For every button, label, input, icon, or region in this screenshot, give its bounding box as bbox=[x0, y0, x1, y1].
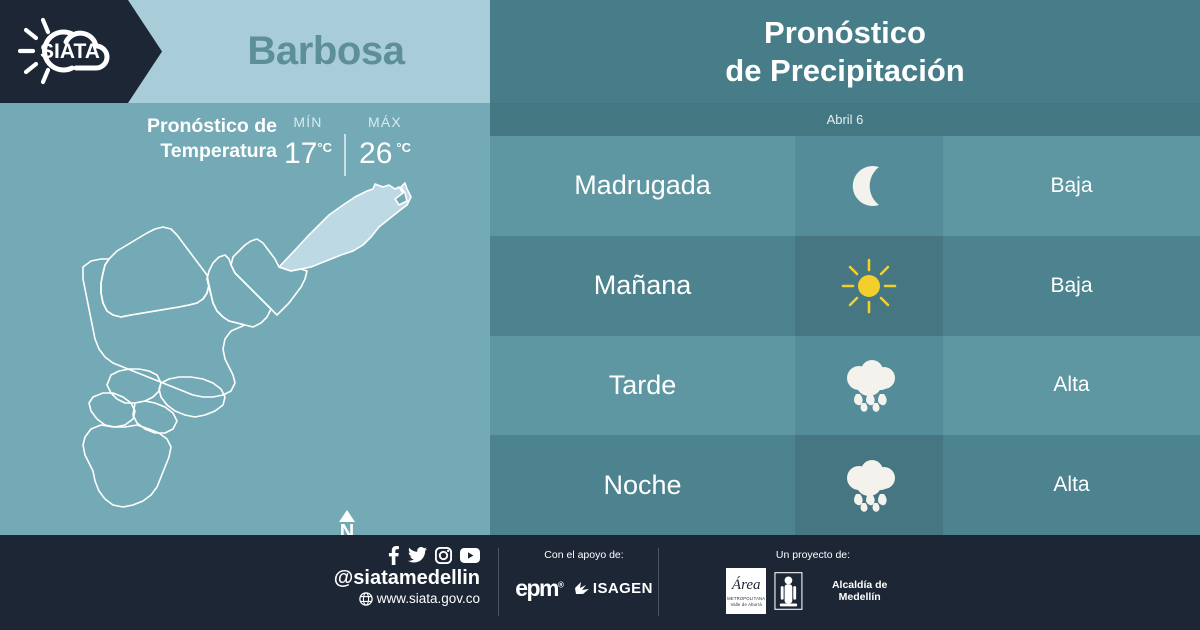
area-logo-sub: METROPOLITANA Valle de Aburrá bbox=[726, 596, 766, 608]
forecast-period: Mañana bbox=[490, 236, 795, 336]
map-region-sabaneta bbox=[133, 401, 177, 433]
temperature-min: MÍN 17°C bbox=[277, 112, 339, 170]
globe-icon bbox=[359, 592, 373, 606]
website-row[interactable]: www.siata.gov.co bbox=[300, 590, 480, 608]
map-region-barbosa bbox=[279, 183, 411, 271]
siata-logo-banner: SIATA bbox=[0, 0, 162, 103]
rain-cloud-icon bbox=[839, 356, 899, 414]
isagen-logo: ISAGEN bbox=[574, 580, 653, 597]
forecast-icon-cell bbox=[795, 136, 943, 236]
isagen-logo-text: ISAGEN bbox=[593, 580, 653, 597]
forecast-icon-cell bbox=[795, 336, 943, 436]
temperature-title: Pronóstico de Temperatura bbox=[92, 114, 277, 164]
temperature-max-label: MÁX bbox=[350, 112, 420, 132]
map-svg bbox=[55, 175, 455, 525]
area-logo-word: Área bbox=[726, 577, 766, 594]
temperature-max-value-wrap: 26°C bbox=[350, 132, 420, 170]
social-icons bbox=[300, 545, 480, 565]
temperature-title-line2: Temperatura bbox=[160, 140, 277, 162]
forecast-title-line2: de Precipitación bbox=[725, 52, 964, 90]
temperature-divider bbox=[344, 134, 346, 176]
forecast-title-line1: Pronóstico bbox=[764, 14, 926, 52]
area-metropolitana-logo: Área METROPOLITANA Valle de Aburrá bbox=[726, 568, 766, 614]
forecast-level: Alta bbox=[943, 435, 1200, 535]
footer: @siatamedellin www.siata.gov.co Con el a… bbox=[0, 535, 1200, 630]
forecast-icon-cell bbox=[795, 236, 943, 336]
forecast-row: Madrugada Baja bbox=[490, 136, 1200, 236]
forecast-row: Mañana bbox=[490, 236, 1200, 336]
forecast-level: Alta bbox=[943, 336, 1200, 436]
forecast-level: Baja bbox=[943, 236, 1200, 336]
facebook-icon[interactable] bbox=[387, 546, 400, 565]
temperature-min-value-wrap: 17°C bbox=[277, 132, 339, 170]
forecast-row: Noche bbox=[490, 435, 1200, 535]
temperature-min-label: MÍN bbox=[277, 112, 339, 132]
instagram-icon[interactable] bbox=[435, 547, 452, 564]
twitter-icon[interactable] bbox=[408, 547, 427, 563]
project-label: Un proyecto de: bbox=[718, 548, 908, 562]
social-handle[interactable]: @siatamedellin bbox=[300, 566, 480, 590]
support-block: Con el apoyo de: epm® ISAGEN bbox=[510, 548, 658, 608]
epm-logo: epm® bbox=[515, 575, 564, 602]
youtube-icon[interactable] bbox=[460, 548, 480, 563]
forecast-header: Pronóstico de Precipitación bbox=[490, 0, 1200, 103]
map-region-la-estrella bbox=[89, 393, 135, 427]
sun-icon bbox=[840, 257, 898, 315]
city-title: Barbosa bbox=[162, 0, 490, 103]
sun-cloud-icon: SIATA bbox=[14, 14, 126, 88]
temperature-max: MÁX 26°C bbox=[350, 112, 420, 170]
forecast-date: Abril 6 bbox=[490, 103, 1200, 136]
forecast-rows: Madrugada Baja Mañana bbox=[490, 136, 1200, 535]
alcaldia-de-medellin-seal bbox=[774, 571, 803, 611]
rain-cloud-icon bbox=[839, 456, 899, 514]
temperature-block: Pronóstico de Temperatura MÍN 17°C MÁX 2… bbox=[0, 112, 490, 184]
forecast-row: Tarde bbox=[490, 336, 1200, 436]
temperature-min-value: 17 bbox=[284, 137, 317, 170]
project-block: Un proyecto de: Área METROPOLITANA Valle… bbox=[718, 548, 908, 614]
left-panel: SIATA Barbosa Pronóstico de Temperatura … bbox=[0, 0, 490, 535]
epm-logo-mark: ® bbox=[558, 580, 564, 589]
map-region-itagui bbox=[107, 369, 161, 403]
epm-logo-text: epm bbox=[515, 575, 558, 601]
forecast-period: Tarde bbox=[490, 336, 795, 436]
aburra-valley-map: N bbox=[55, 175, 455, 525]
forecast-period: Noche bbox=[490, 435, 795, 535]
social-block: @siatamedellin www.siata.gov.co bbox=[300, 545, 480, 608]
moon-icon bbox=[842, 159, 896, 213]
forecast-level: Baja bbox=[943, 136, 1200, 236]
temperature-max-value: 26 bbox=[359, 137, 392, 170]
siata-logo-text: SIATA bbox=[40, 40, 100, 63]
project-logos: Área METROPOLITANA Valle de Aburrá Alcal… bbox=[718, 568, 908, 614]
infographic-root: SIATA Barbosa Pronóstico de Temperatura … bbox=[0, 0, 1200, 630]
temperature-min-unit: °C bbox=[317, 140, 332, 155]
footer-divider bbox=[498, 548, 499, 616]
map-region-caldas bbox=[83, 425, 171, 507]
temperature-title-line1: Pronóstico de bbox=[147, 115, 277, 137]
map-region-copacabana bbox=[207, 255, 271, 327]
website-text: www.siata.gov.co bbox=[377, 590, 480, 608]
support-logos: epm® ISAGEN bbox=[510, 568, 658, 608]
forecast-panel: Pronóstico de Precipitación Abril 6 Madr… bbox=[490, 0, 1200, 535]
support-label: Con el apoyo de: bbox=[510, 548, 658, 562]
map-region-medellin bbox=[83, 259, 245, 397]
footer-divider bbox=[658, 548, 659, 616]
alcaldia-de-medellin-text: Alcaldía de Medellín bbox=[811, 579, 908, 603]
temperature-max-unit: °C bbox=[396, 140, 411, 155]
isagen-mark-icon bbox=[574, 581, 591, 596]
forecast-period: Madrugada bbox=[490, 136, 795, 236]
forecast-icon-cell bbox=[795, 435, 943, 535]
